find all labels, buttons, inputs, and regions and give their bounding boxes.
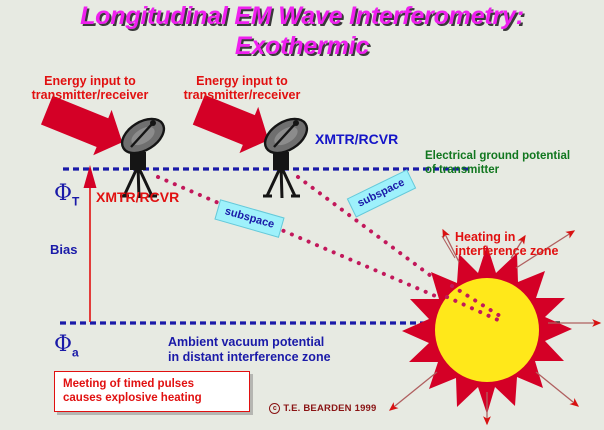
title-line-1: Longitudinal EM Wave Interferometry: xyxy=(0,2,604,32)
xmtr-rcvr-right-label: XMTR/RCVR xyxy=(315,132,398,148)
bias-arrow xyxy=(84,165,97,322)
xmtr-rcvr-left-label: XMTR/RCVR xyxy=(96,190,179,206)
phi-t-subscript: T xyxy=(72,194,79,208)
ambient-potential-label: Ambient vacuum potential in distant inte… xyxy=(168,335,331,365)
energy-input-left-label: Energy input to transmitter/receiver xyxy=(20,74,160,102)
satellite-dish-left xyxy=(116,112,170,198)
explosive-heating-note-box: Meeting of timed pulses causes explosive… xyxy=(54,371,250,412)
phi-a-subscript: a xyxy=(72,345,79,359)
satellite-dish-right xyxy=(259,112,313,198)
note-box-text: Meeting of timed pulses causes explosive… xyxy=(63,377,243,405)
diagram-canvas: Longitudinal EM Wave Interferometry: Exo… xyxy=(0,0,604,430)
bias-label: Bias xyxy=(50,243,77,258)
heating-label-leader xyxy=(442,236,455,258)
copyright-text: T.E. BEARDEN 1999 xyxy=(283,403,376,414)
title-line-2: Exothermic xyxy=(0,32,604,62)
phi-t-label: ΦT xyxy=(26,157,79,233)
phi-symbol: Φ xyxy=(54,332,72,357)
beam-left-to-zone xyxy=(158,177,468,310)
diagram-vector-layer xyxy=(0,0,604,430)
page-title: Longitudinal EM Wave Interferometry: Exo… xyxy=(0,2,604,61)
copyright-icon: c xyxy=(269,403,280,414)
energy-input-right-label: Energy input to transmitter/receiver xyxy=(168,74,316,102)
heating-label: Heating in interference zone xyxy=(455,230,595,258)
interference-zone-starburst xyxy=(402,245,572,414)
ground-potential-label: Electrical ground potential of transmitt… xyxy=(425,150,600,177)
copyright-notice: cT.E. BEARDEN 1999 xyxy=(258,392,377,425)
phi-symbol: Φ xyxy=(54,181,72,206)
